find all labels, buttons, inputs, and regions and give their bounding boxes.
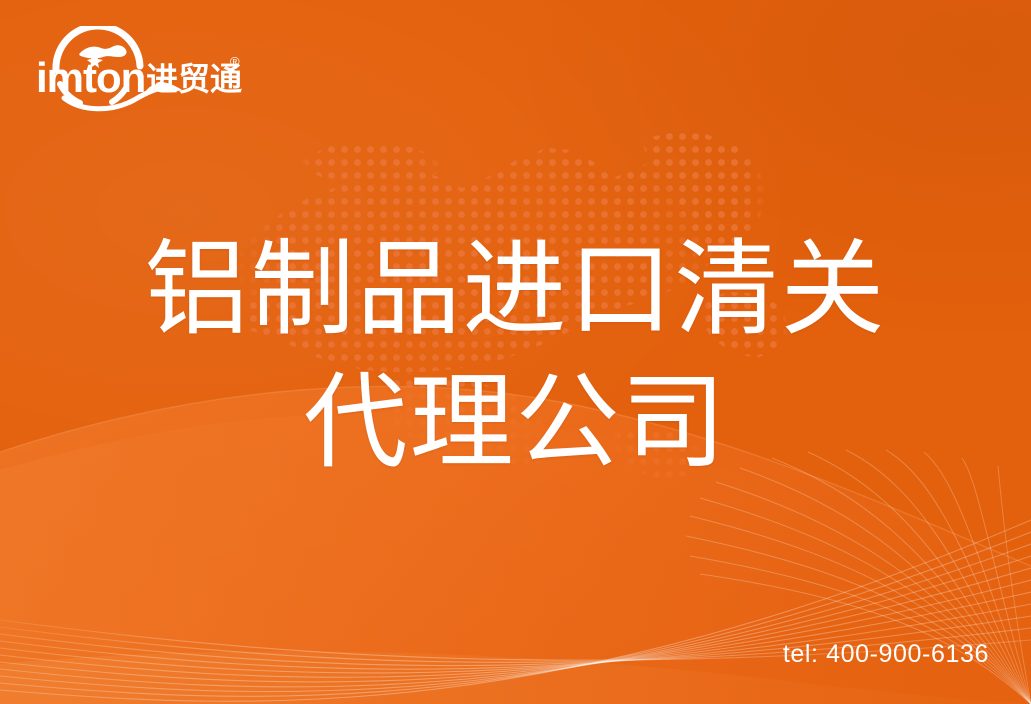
brand-logo-graphic: imton 进贸通 ® [34, 26, 244, 112]
logo-wordmark: imton [36, 54, 145, 101]
brand-logo[interactable]: imton 进贸通 ® [34, 26, 244, 112]
headline-line-1: 铝制品进口清关 [0, 224, 1031, 357]
promo-banner: imton 进贸通 ® 铝制品进口清关 代理公司 tel: 400-900-61… [0, 0, 1031, 704]
logo-trademark-symbol: ® [230, 54, 240, 69]
contact-phone[interactable]: tel: 400-900-6136 [783, 640, 989, 669]
headline-line-2: 代理公司 [0, 357, 1031, 490]
headline-block: 铝制品进口清关 代理公司 [0, 224, 1031, 490]
